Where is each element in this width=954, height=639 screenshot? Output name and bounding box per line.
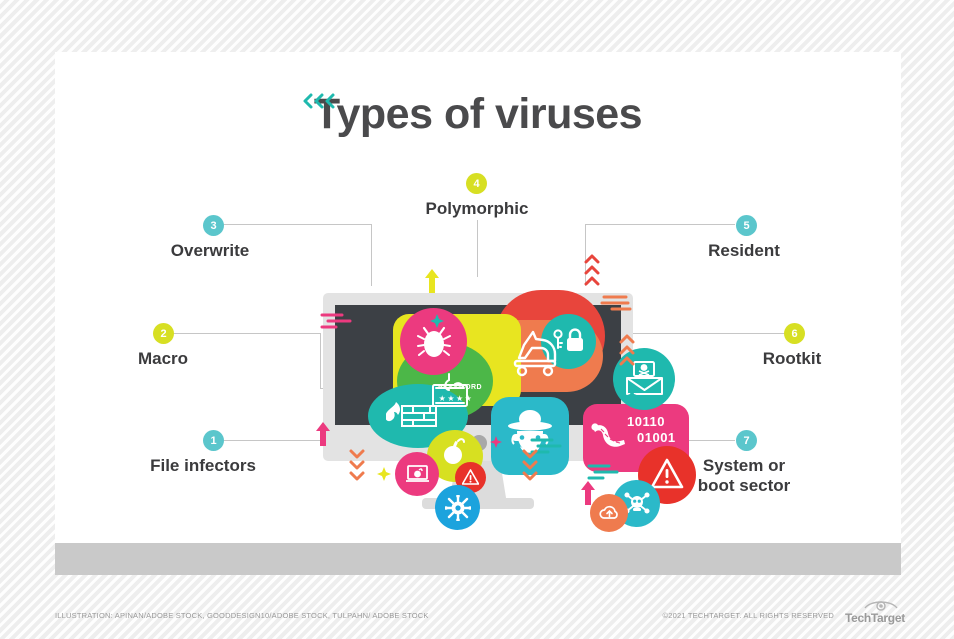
callout-label-macro: Macro (60, 349, 266, 369)
connector-line-3-horizontal (220, 224, 372, 225)
deco-chevrons-up-red (582, 252, 602, 295)
connector-line-5-horizontal (585, 224, 735, 225)
password-stars: ★★★★ (439, 394, 473, 402)
callout-label-file-infectors: File infectors (100, 456, 306, 476)
copyright-text: ©2021 TECHTARGET. ALL RIGHTS RESERVED (663, 611, 834, 620)
callout-badge-5: 5 (736, 215, 757, 236)
callout-label-overwrite: Overwrite (107, 241, 313, 261)
card-footer-bar (55, 543, 901, 575)
callout-label-rootkit: Rootkit (689, 349, 895, 369)
techtarget-eye-icon (863, 598, 899, 612)
deco-sparkle-teal-1 (430, 314, 444, 333)
laptop-bomb-icon (405, 462, 430, 486)
worm-binary-icon (589, 422, 627, 452)
callout-badge-3: 3 (203, 215, 224, 236)
deco-chevrons-up-orange (617, 332, 637, 375)
infographic-card: Types of viruses 1 File infectors 2 Macr… (55, 52, 901, 575)
connector-line-1-horizontal (220, 440, 328, 441)
connector-line-4-vertical (477, 220, 478, 277)
binary-text-line-2: 01001 (637, 430, 676, 446)
callout-badge-6: 6 (784, 323, 805, 344)
deco-arrow-up-yellow (424, 267, 440, 300)
password-phishing-icon (425, 372, 473, 412)
techtarget-logo: TechTarget (845, 598, 917, 626)
deco-chevrons-down-right (520, 447, 540, 490)
trojan-horse-icon (507, 328, 565, 378)
connector-line-2-vertical (320, 333, 321, 388)
connector-line-3-vertical (371, 224, 372, 286)
virus-cell-icon (445, 495, 471, 521)
callout-label-resident: Resident (641, 241, 847, 261)
deco-dashes-pink-left (320, 311, 354, 336)
deco-sparkle-teal-2 (625, 389, 639, 408)
callout-label-polymorphic: Polymorphic (374, 199, 580, 219)
page-title: Types of viruses (55, 90, 901, 139)
deco-arrow-up-pink-left (315, 420, 331, 453)
connector-line-2-horizontal (173, 333, 321, 334)
warning-circle-icon (462, 469, 479, 486)
deco-sparkle-pink (490, 435, 502, 453)
deco-chevrons-down-left (347, 447, 367, 490)
deco-chevrons-left (301, 92, 341, 115)
bomb-icon (439, 434, 469, 466)
binary-text-line-1: 10110 (627, 414, 665, 430)
deco-arrow-up-pink-right (580, 479, 596, 512)
illustration-credit: ILLUSTRATION: APINAN/ADOBE STOCK, GOODDE… (55, 611, 429, 620)
deco-sparkle-yellow (377, 467, 391, 486)
callout-badge-2: 2 (153, 323, 174, 344)
callout-badge-4: 4 (466, 173, 487, 194)
callout-badge-1: 1 (203, 430, 224, 451)
techtarget-logo-text: TechTarget (845, 611, 917, 625)
connector-line-6-horizontal (625, 333, 787, 334)
callout-badge-7: 7 (736, 430, 757, 451)
warning-triangle-icon (650, 458, 684, 491)
cloud-upload-icon (599, 504, 620, 522)
deco-dashes-orange-right (600, 293, 634, 318)
password-label: PASSWORD (438, 384, 482, 391)
